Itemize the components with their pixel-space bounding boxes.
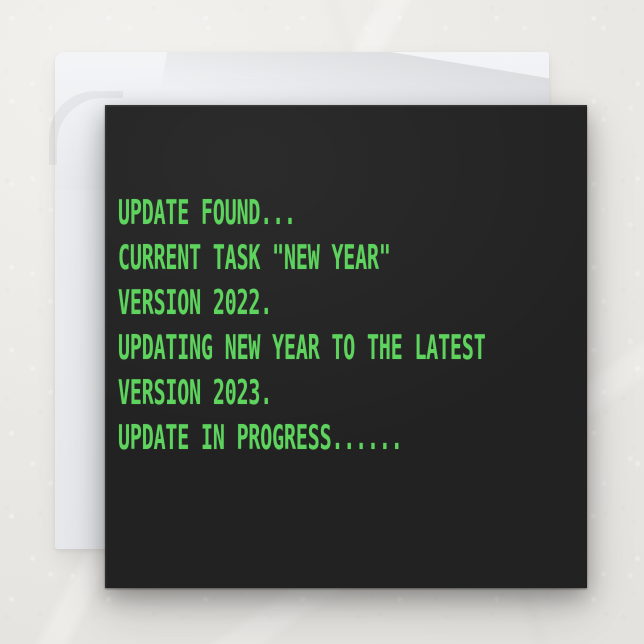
card-line-1: UPDATE FOUND... <box>118 191 389 236</box>
invitation-card: UPDATE FOUND... CURRENT TASK "NEW YEAR" … <box>105 105 587 588</box>
card-line-5: VERSION 2023. <box>118 371 389 416</box>
card-line-3: VERSION 2022. <box>118 281 389 326</box>
card-line-2: CURRENT TASK "NEW YEAR" <box>118 236 389 281</box>
card-line-4: UPDATING NEW YEAR TO THE LATEST <box>118 326 389 371</box>
card-message: UPDATE FOUND... CURRENT TASK "NEW YEAR" … <box>118 191 389 461</box>
product-photo-scene: UPDATE FOUND... CURRENT TASK "NEW YEAR" … <box>0 0 644 644</box>
card-line-6: UPDATE IN PROGRESS...... <box>118 416 389 461</box>
